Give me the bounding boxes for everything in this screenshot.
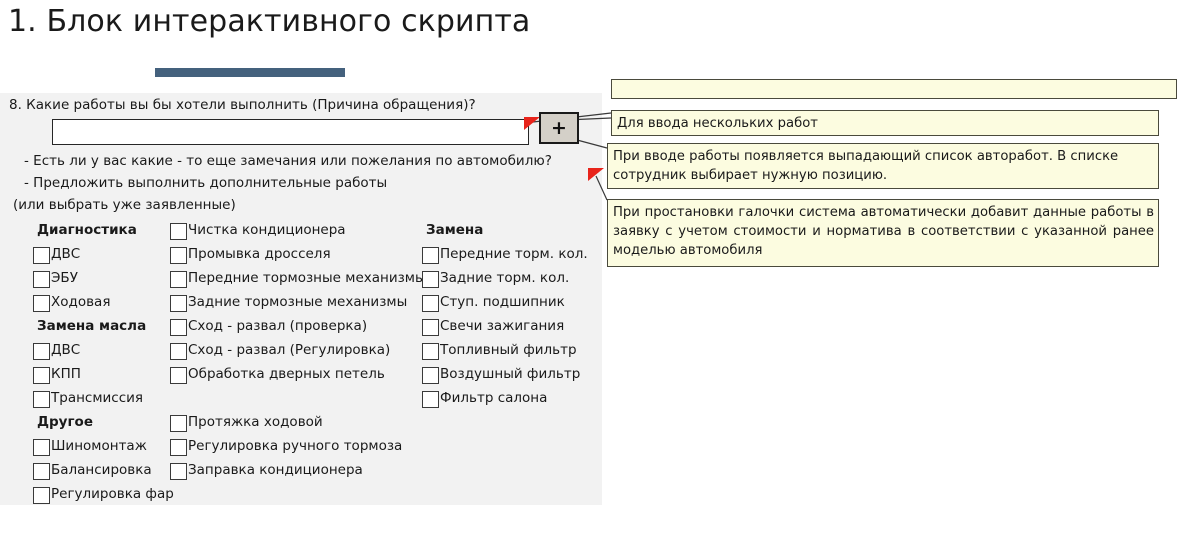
checkbox-column-1: ДиагностикаДВСЭБУХодоваяЗамена маслаДВСК…	[33, 219, 173, 507]
page-title: 1. Блок интерактивного скрипта	[8, 4, 530, 39]
checkbox-row[interactable]: Задние тормозные механизмы	[170, 291, 418, 315]
checkbox-icon[interactable]	[33, 391, 50, 408]
checkbox-icon[interactable]	[170, 367, 187, 384]
checkbox-row[interactable]: Топливный фильтр	[422, 339, 597, 363]
checkbox-row[interactable]: КПП	[33, 363, 173, 387]
add-work-button[interactable]: +	[539, 112, 579, 144]
checkbox-row[interactable]: Трансмиссия	[33, 387, 173, 411]
checkbox-row[interactable]: Фильтр салона	[422, 387, 597, 411]
checkbox-column-3: ЗаменаПередние торм. кол.Задние торм. ко…	[422, 219, 597, 411]
checkbox-icon[interactable]	[422, 391, 439, 408]
checkbox-icon[interactable]	[170, 319, 187, 336]
checkbox-row[interactable]: ЭБУ	[33, 267, 173, 291]
checkbox-icon[interactable]	[422, 271, 439, 288]
checkbox-row[interactable]: Обработка дверных петель	[170, 363, 418, 387]
checkbox-icon[interactable]	[422, 367, 439, 384]
note-top-partial	[611, 79, 1177, 99]
checkbox-label: Балансировка	[51, 464, 152, 478]
prompt-line-2: - Предложить выполнить дополнительные ра…	[24, 175, 387, 191]
checkbox-label: Обработка дверных петель	[188, 368, 385, 382]
checkbox-label: Регулировка ручного тормоза	[188, 440, 402, 454]
title-accent-bar	[155, 68, 345, 77]
checkbox-label: Воздушный фильтр	[440, 368, 580, 382]
checkbox-row[interactable]: Сход - развал (Регулировка)	[170, 339, 418, 363]
question-label: 8. Какие работы вы бы хотели выполнить (…	[9, 97, 476, 113]
checkbox-icon[interactable]	[422, 343, 439, 360]
checkbox-row[interactable]: ДВС	[33, 243, 173, 267]
checkbox-label: Промывка дросселя	[188, 248, 331, 262]
checkbox-icon[interactable]	[33, 487, 50, 504]
checkbox-icon[interactable]	[170, 271, 187, 288]
checkbox-icon[interactable]	[170, 415, 187, 432]
checkbox-label: Заправка кондиционера	[188, 464, 363, 478]
checkbox-label: Сход - развал (Регулировка)	[188, 344, 390, 358]
checkbox-label: Чистка кондиционера	[188, 224, 346, 238]
checkbox-row[interactable]: ДВС	[33, 339, 173, 363]
checkbox-icon[interactable]	[33, 463, 50, 480]
checkbox-group-heading: Другое	[33, 411, 173, 435]
prompt-line-1: - Есть ли у вас какие - то еще замечания…	[24, 153, 552, 169]
checkbox-row[interactable]: Ходовая	[33, 291, 173, 315]
works-input[interactable]	[52, 119, 529, 145]
checkbox-label: КПП	[51, 368, 81, 382]
checkbox-icon[interactable]	[422, 295, 439, 312]
checkbox-icon[interactable]	[170, 295, 187, 312]
checkbox-icon[interactable]	[33, 343, 50, 360]
checkbox-column-2: Чистка кондиционераПромывка дросселяПере…	[170, 219, 418, 483]
checkbox-row[interactable]: Ступ. подшипник	[422, 291, 597, 315]
checkbox-label: Свечи зажигания	[440, 320, 564, 334]
checkbox-row[interactable]: Задние торм. кол.	[422, 267, 597, 291]
note-dropdown-list: При вводе работы появляется выпадающий с…	[607, 143, 1159, 189]
checkbox-icon[interactable]	[170, 223, 187, 240]
checkbox-label: Трансмиссия	[51, 392, 143, 406]
checkbox-group-heading: Диагностика	[33, 219, 173, 243]
checkbox-row[interactable]: Промывка дросселя	[170, 243, 418, 267]
checkbox-label: Протяжка ходовой	[188, 416, 323, 430]
checkbox-row[interactable]: Протяжка ходовой	[170, 411, 418, 435]
note-multiple-works: Для ввода нескольких работ	[611, 110, 1159, 136]
checkbox-row[interactable]: Сход - развал (проверка)	[170, 315, 418, 339]
note-auto-add-works: При простановки галочки система автомати…	[607, 199, 1159, 267]
checkbox-icon[interactable]	[170, 439, 187, 456]
checkbox-row[interactable]: Чистка кондиционера	[170, 219, 418, 243]
checkbox-icon[interactable]	[33, 271, 50, 288]
checkbox-icon[interactable]	[33, 295, 50, 312]
checkbox-icon[interactable]	[422, 247, 439, 264]
checkbox-icon[interactable]	[170, 463, 187, 480]
checkbox-row[interactable]: Регулировка фар	[33, 483, 173, 507]
checkbox-group-heading: Замена	[422, 219, 597, 243]
checkbox-label: ЭБУ	[51, 272, 78, 286]
checkbox-label: Сход - развал (проверка)	[188, 320, 367, 334]
checkbox-icon[interactable]	[33, 247, 50, 264]
checkbox-label: Шиномонтаж	[51, 440, 147, 454]
checkbox-label: Ступ. подшипник	[440, 296, 565, 310]
checkbox-row[interactable]: Передние торм. кол.	[422, 243, 597, 267]
checkbox-row[interactable]: Передние тормозные механизмы	[170, 267, 418, 291]
checkbox-label: Передние торм. кол.	[440, 248, 588, 262]
checkbox-row[interactable]: Регулировка ручного тормоза	[170, 435, 418, 459]
checkbox-label: Задние тормозные механизмы	[188, 296, 407, 310]
prompt-line-3: (или выбрать уже заявленные)	[13, 197, 236, 213]
checkbox-label: Регулировка фар	[51, 488, 174, 502]
checkbox-group-heading: Замена масла	[33, 315, 173, 339]
checkbox-label: Ходовая	[51, 296, 110, 310]
checkbox-icon[interactable]	[33, 439, 50, 456]
checkbox-icon[interactable]	[170, 343, 187, 360]
checkbox-row[interactable]: Балансировка	[33, 459, 173, 483]
checkbox-row[interactable]: Заправка кондиционера	[170, 459, 418, 483]
checkbox-label: ДВС	[51, 344, 80, 358]
checkbox-icon[interactable]	[422, 319, 439, 336]
checkbox-icon[interactable]	[33, 367, 50, 384]
interactive-script-form-panel: 8. Какие работы вы бы хотели выполнить (…	[0, 93, 602, 505]
checkbox-row[interactable]: Свечи зажигания	[422, 315, 597, 339]
checkbox-label: ДВС	[51, 248, 80, 262]
checkbox-icon[interactable]	[170, 247, 187, 264]
checkbox-row[interactable]: Шиномонтаж	[33, 435, 173, 459]
checkbox-label: Передние тормозные механизмы	[188, 272, 426, 286]
checkbox-group-spacer	[170, 387, 418, 411]
checkbox-label: Задние торм. кол.	[440, 272, 569, 286]
checkbox-label: Топливный фильтр	[440, 344, 577, 358]
checkbox-row[interactable]: Воздушный фильтр	[422, 363, 597, 387]
checkbox-label: Фильтр салона	[440, 392, 547, 406]
